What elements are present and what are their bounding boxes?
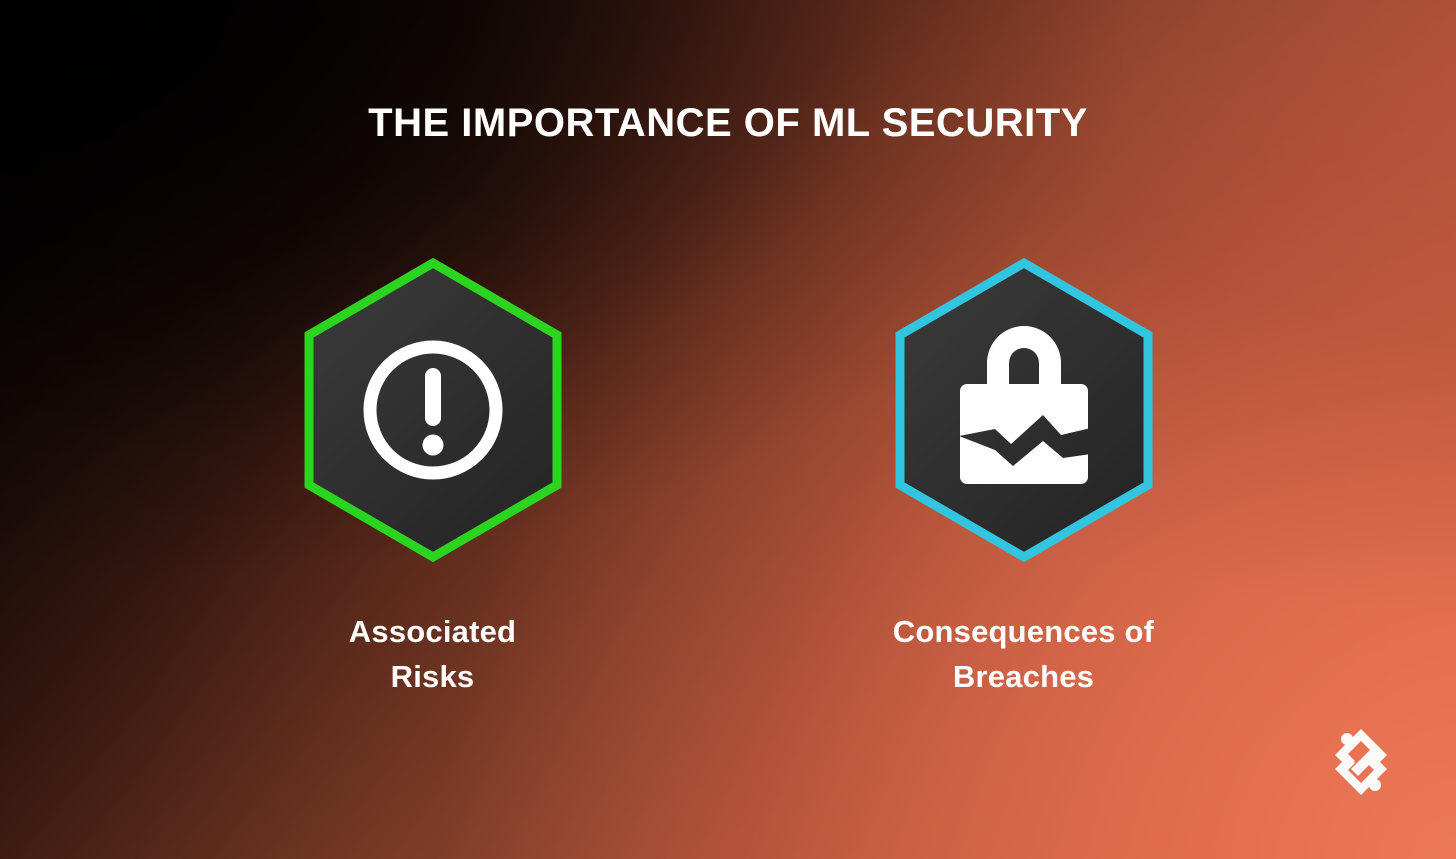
slide-canvas: THE IMPORTANCE OF ML SECURITY [0, 0, 1456, 859]
card-consequences-of-breaches[interactable]: Consequences of Breaches [891, 258, 1157, 700]
card-label-associated-risks: Associated Risks [349, 610, 516, 700]
slide-title: THE IMPORTANCE OF ML SECURITY [0, 101, 1456, 146]
card-label-consequences-of-breaches: Consequences of Breaches [893, 610, 1154, 700]
card-associated-risks[interactable]: Associated Risks [300, 258, 566, 700]
hexagon-badge-associated-risks [300, 258, 566, 562]
hexagon-badge-consequences-of-breaches [891, 258, 1157, 562]
cards-row: Associated Risks [0, 258, 1456, 700]
brand-diamond-s-logo [1330, 723, 1392, 801]
